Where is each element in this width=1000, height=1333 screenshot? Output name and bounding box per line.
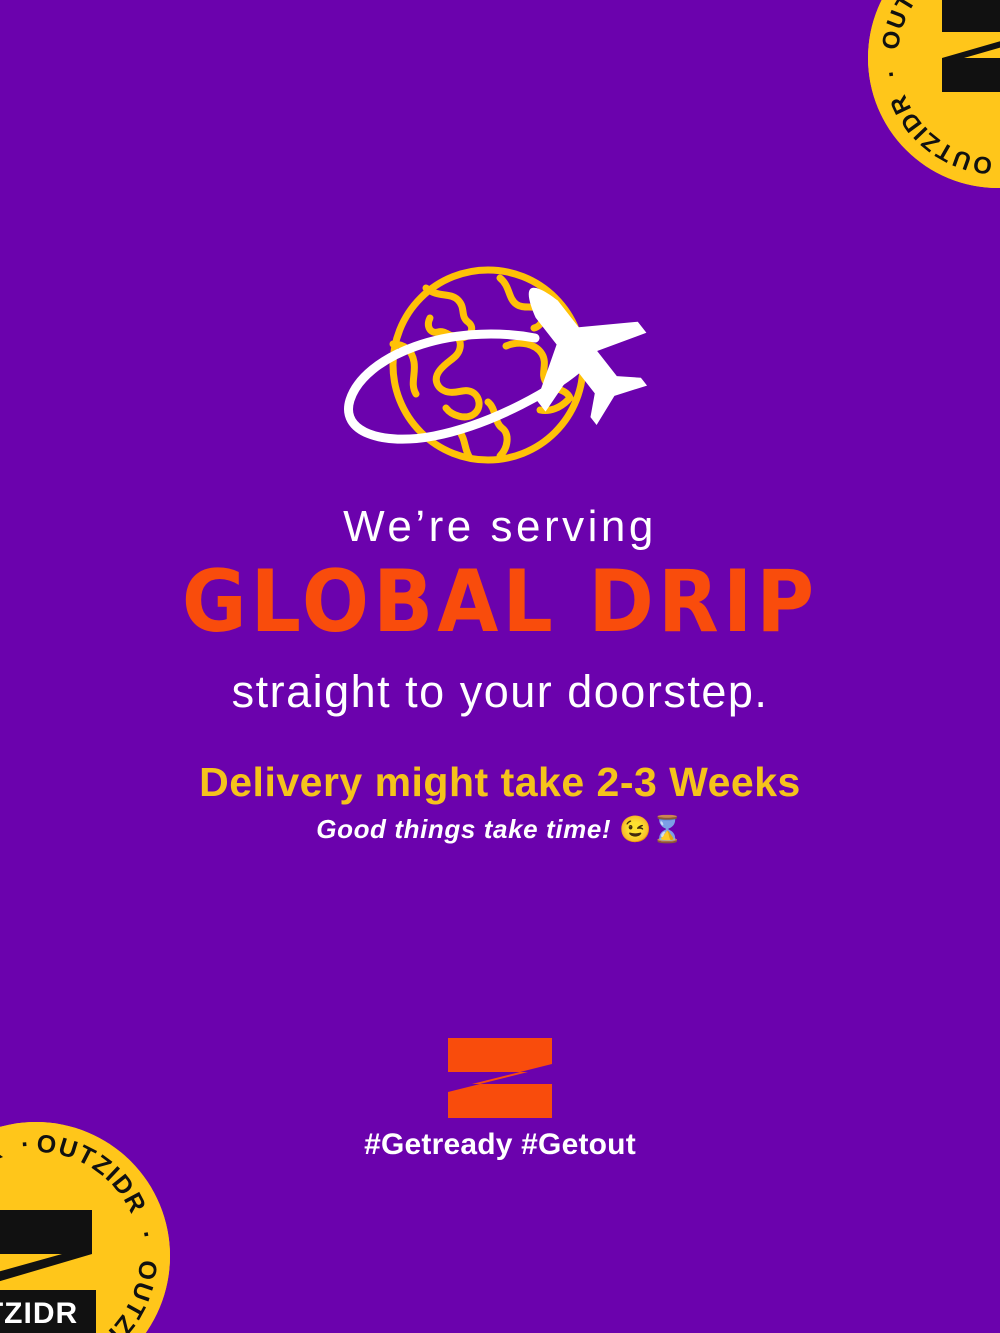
hashtags-text: #Getready #Getout: [0, 1128, 1000, 1162]
headline-block: We’re serving GLOBAL DRIP straight to yo…: [0, 505, 1000, 714]
poster-canvas: OUTZIDR · OUTZIDR · OUTZIDR · OUTZIDR · …: [0, 0, 1000, 1333]
outzidr-z-mark-logo: [448, 1038, 552, 1118]
svg-text:OUTZIDR: OUTZIDR: [0, 1297, 78, 1330]
globe-airplane-illustration: [330, 252, 670, 482]
page-title: GLOBAL DRIP: [0, 557, 1000, 647]
badge-center-wordmark: OUTZIDR: [0, 1290, 96, 1333]
tagline-text: Good things take time!: [316, 814, 611, 844]
outzidr-badge-top-right: OUTZIDR · OUTZIDR · OUTZIDR · OUTZIDR · …: [868, 0, 1000, 188]
subline-text: straight to your doorstep.: [0, 669, 1000, 714]
tagline-emoji: 😉⌛: [619, 814, 684, 844]
delivery-notice: Delivery might take 2-3 Weeks: [0, 762, 1000, 803]
delivery-tagline: Good things take time! 😉⌛: [0, 814, 1000, 845]
eyebrow-text: We’re serving: [0, 505, 1000, 549]
